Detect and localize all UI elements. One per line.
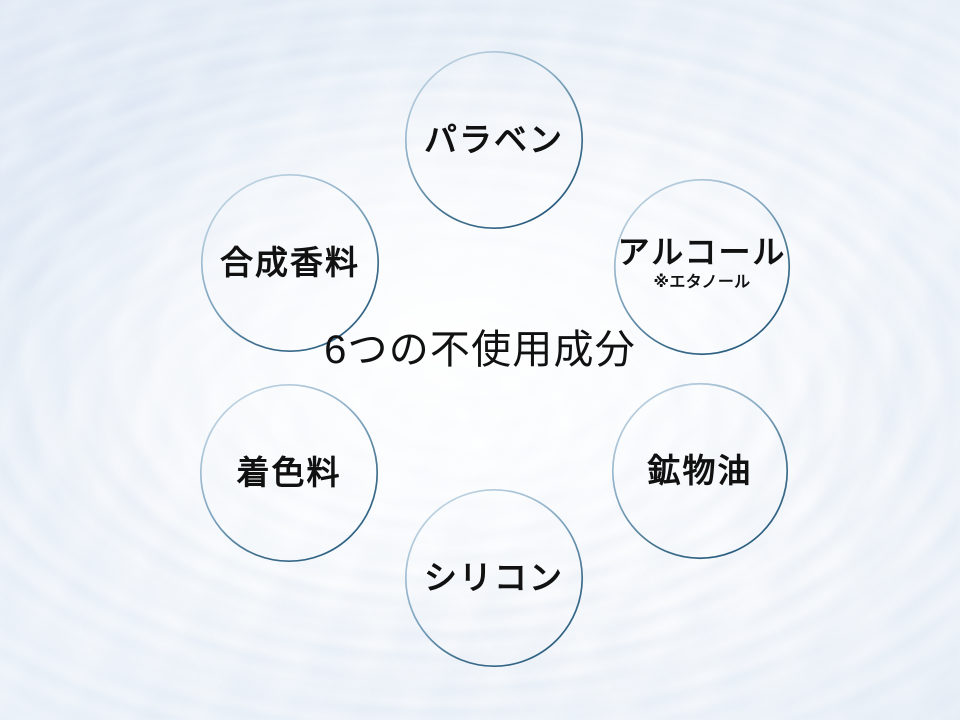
slide-canvas: パラベン 合成香料 アルコール ※エタノール 着色料 鉱物油 シリコン <box>0 0 960 720</box>
bubble-silicone[interactable]: シリコン <box>404 488 584 668</box>
bubble-mineral-oil[interactable]: 鉱物油 <box>611 382 789 560</box>
bubble-label-silicone: シリコン <box>424 561 564 596</box>
bubble-label-paraben: パラベン <box>424 123 564 158</box>
bubble-label-alcohol: アルコール <box>618 236 787 270</box>
bubble-paraben[interactable]: パラベン <box>404 50 584 230</box>
bubble-colorant[interactable]: 着色料 <box>199 383 379 563</box>
bubble-sublabel-alcohol: ※エタノール <box>654 274 751 292</box>
bubble-label-synthetic-fragrance: 合成香料 <box>220 246 360 281</box>
bubble-label-colorant: 着色料 <box>237 456 342 491</box>
page-title: 6つの不使用成分 <box>0 328 960 372</box>
bubble-synthetic-fragrance[interactable]: 合成香料 <box>200 173 380 353</box>
bubble-label-mineral-oil: 鉱物油 <box>648 454 753 489</box>
